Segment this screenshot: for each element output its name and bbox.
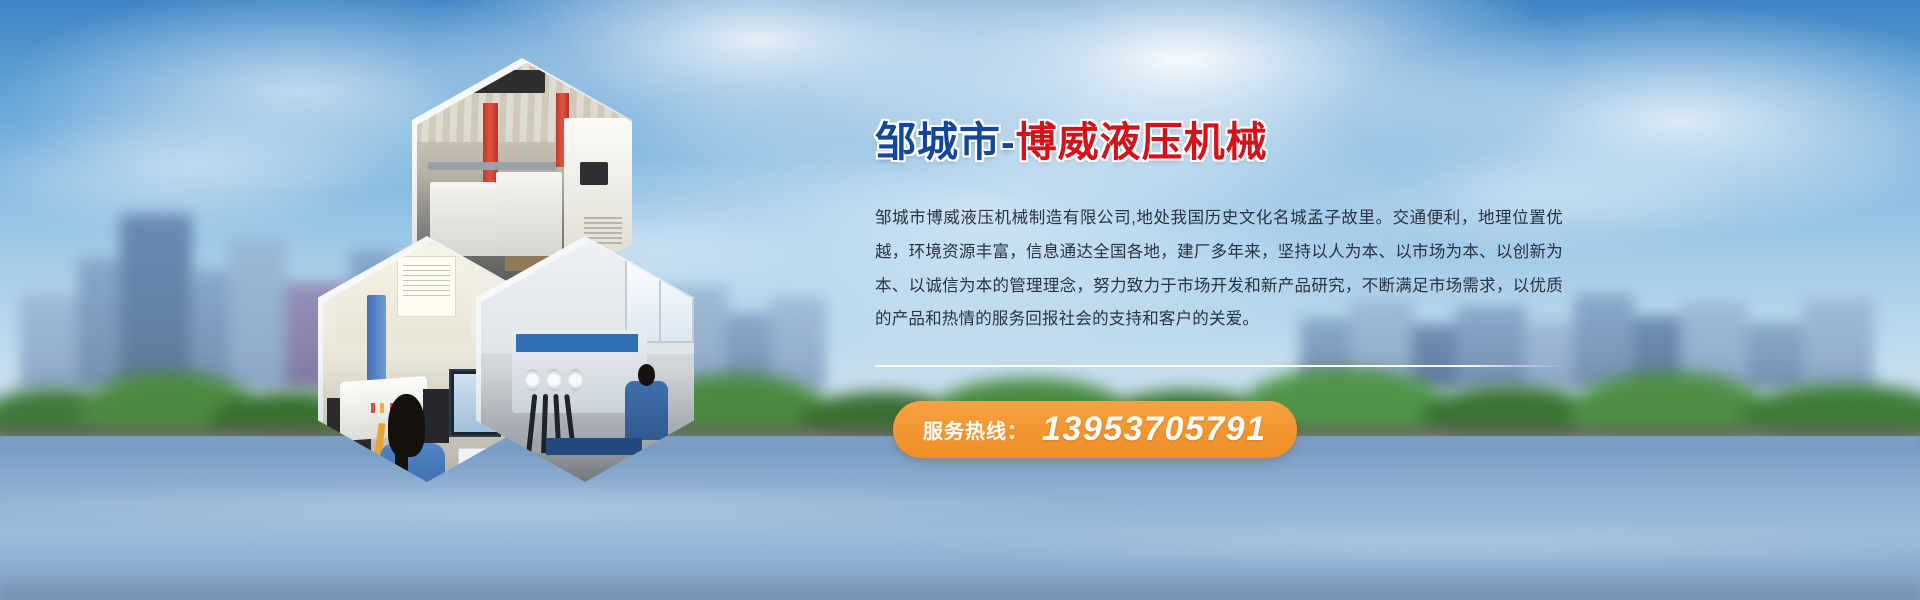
company-hero-banner: 邹城市-博威液压机械 邹城市博威液压机械制造有限公司,地处我国历史文化名城孟子故… <box>0 0 1920 600</box>
photo-detail <box>546 369 561 391</box>
photo-detail <box>516 334 638 351</box>
photo-detail <box>457 70 545 92</box>
photo-detail <box>525 369 540 391</box>
hexagon-photo-cluster <box>300 58 700 438</box>
company-description: 邹城市博威液压机械制造有限公司,地处我国历史文化名城孟子故里。交通便利，地理位置… <box>875 202 1563 337</box>
photo-detail <box>546 438 642 455</box>
page-title-brand: 博威液压机械 <box>1016 119 1268 165</box>
photo-detail <box>397 256 456 317</box>
hotline-phone-number[interactable]: 13953705791 <box>1042 412 1267 446</box>
photo-detail <box>580 162 609 184</box>
photo-detail <box>423 389 449 443</box>
page-title: 邹城市-博威液压机械 <box>875 120 1575 166</box>
water-background <box>0 436 1920 600</box>
photo-detail <box>428 162 556 169</box>
content-divider <box>875 365 1563 367</box>
banner-content: 邹城市-博威液压机械 邹城市博威液压机械制造有限公司,地处我国历史文化名城孟子故… <box>875 120 1575 458</box>
photo-detail <box>625 381 669 440</box>
hotline-button[interactable]: 服务热线： 13953705791 <box>893 401 1297 458</box>
hotline-label: 服务热线： <box>923 415 1028 444</box>
page-title-location: 邹城市- <box>875 119 1016 165</box>
photo-detail <box>496 172 562 266</box>
